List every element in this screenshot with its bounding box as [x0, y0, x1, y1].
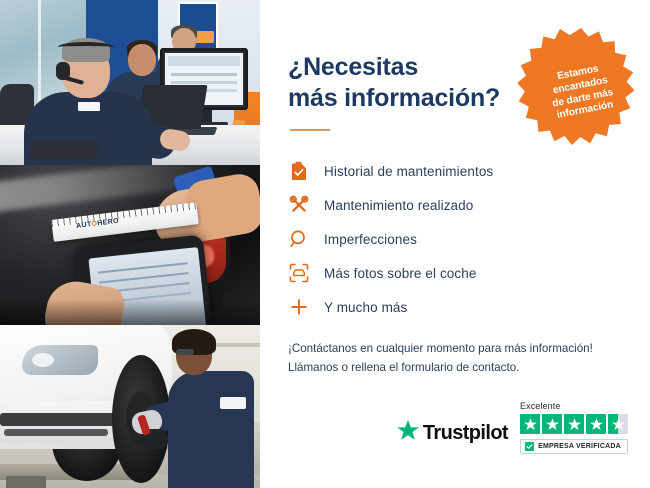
car-lift-base	[6, 476, 46, 488]
agent-2-head	[128, 44, 156, 76]
trustpilot-logo[interactable]: Trustpilot	[397, 420, 508, 454]
check-icon	[525, 442, 534, 451]
list-item: Más fotos sobre el coche	[288, 257, 622, 289]
tools-wrench-screwdriver-icon	[288, 194, 310, 216]
car-grille-lower	[4, 429, 108, 436]
list-item: Y mucho más	[288, 291, 622, 323]
safety-glasses	[176, 349, 194, 355]
trustpilot-widget[interactable]: Trustpilot Excelente EMPRESA VERIFICADA	[397, 401, 628, 454]
badge-text: Estamos encantados de darte más informac…	[526, 58, 638, 127]
list-item-label: Imperfecciones	[324, 232, 417, 247]
list-item: Imperfecciones	[288, 223, 622, 255]
star-filled-2	[542, 414, 562, 434]
agent-1-name-badge	[78, 102, 100, 111]
car-grille	[0, 413, 120, 426]
star-half-5	[608, 414, 628, 434]
mechanic-body	[168, 371, 254, 488]
contact-line-2: Llámanos o rellena el formulario de cont…	[288, 358, 622, 377]
photo-column: AUTOHERO	[0, 0, 260, 488]
mechanic-logo-badge	[220, 397, 246, 409]
title-divider	[290, 129, 330, 131]
photo-shadow	[0, 299, 260, 325]
list-item-label: Mantenimiento realizado	[324, 198, 473, 213]
trustpilot-rating-label: Excelente	[520, 401, 560, 411]
list-item: Historial de mantenimientos	[288, 155, 622, 187]
page-title-line-2: más información?	[288, 84, 500, 112]
document-check-icon	[288, 160, 310, 182]
headset-band	[58, 42, 114, 52]
trustpilot-name: Trustpilot	[423, 422, 508, 445]
content-panel: ¿Necesitas más información? Estamos	[260, 0, 650, 488]
magnifier-icon	[288, 228, 310, 250]
verified-business-badge: EMPRESA VERIFICADA	[520, 439, 628, 454]
list-item-label: Historial de mantenimientos	[324, 164, 493, 179]
car-inspection-ruler-photo: AUTOHERO	[0, 165, 260, 325]
trustpilot-star-icon	[397, 420, 419, 446]
page-title-line-1: ¿Necesitas	[288, 53, 418, 81]
call-center-agents-photo	[0, 0, 260, 165]
list-item: Mantenimiento realizado	[288, 189, 622, 221]
star-filled-3	[564, 414, 584, 434]
star-filled-1	[520, 414, 540, 434]
desk-tablet	[28, 141, 100, 159]
list-item-label: Y mucho más	[324, 300, 407, 315]
trustpilot-stars	[520, 414, 628, 434]
contact-line-1: ¡Contáctanos en cualquier momento para m…	[288, 339, 622, 358]
workshop-wheel-check-photo	[0, 325, 260, 488]
verified-label: EMPRESA VERIFICADA	[538, 443, 621, 450]
plus-icon	[288, 296, 310, 318]
badge-content: Estamos encantados de darte más informac…	[507, 15, 650, 163]
info-badge: Estamos encantados de darte más informac…	[518, 26, 644, 152]
star-filled-4	[586, 414, 606, 434]
page-title: ¿Necesitas más información?	[288, 52, 518, 113]
car-scan-icon	[288, 262, 310, 284]
contact-text: ¡Contáctanos en cualquier momento para m…	[288, 339, 622, 377]
promo-card: AUTOHERO	[0, 0, 650, 488]
list-item-label: Más fotos sobre el coche	[324, 266, 476, 281]
trustpilot-rating: Excelente EMPRESA VERIFICADA	[520, 401, 628, 454]
car-headlight	[22, 345, 98, 375]
feature-list: Historial de mantenimientos Mantenimient…	[288, 155, 622, 323]
